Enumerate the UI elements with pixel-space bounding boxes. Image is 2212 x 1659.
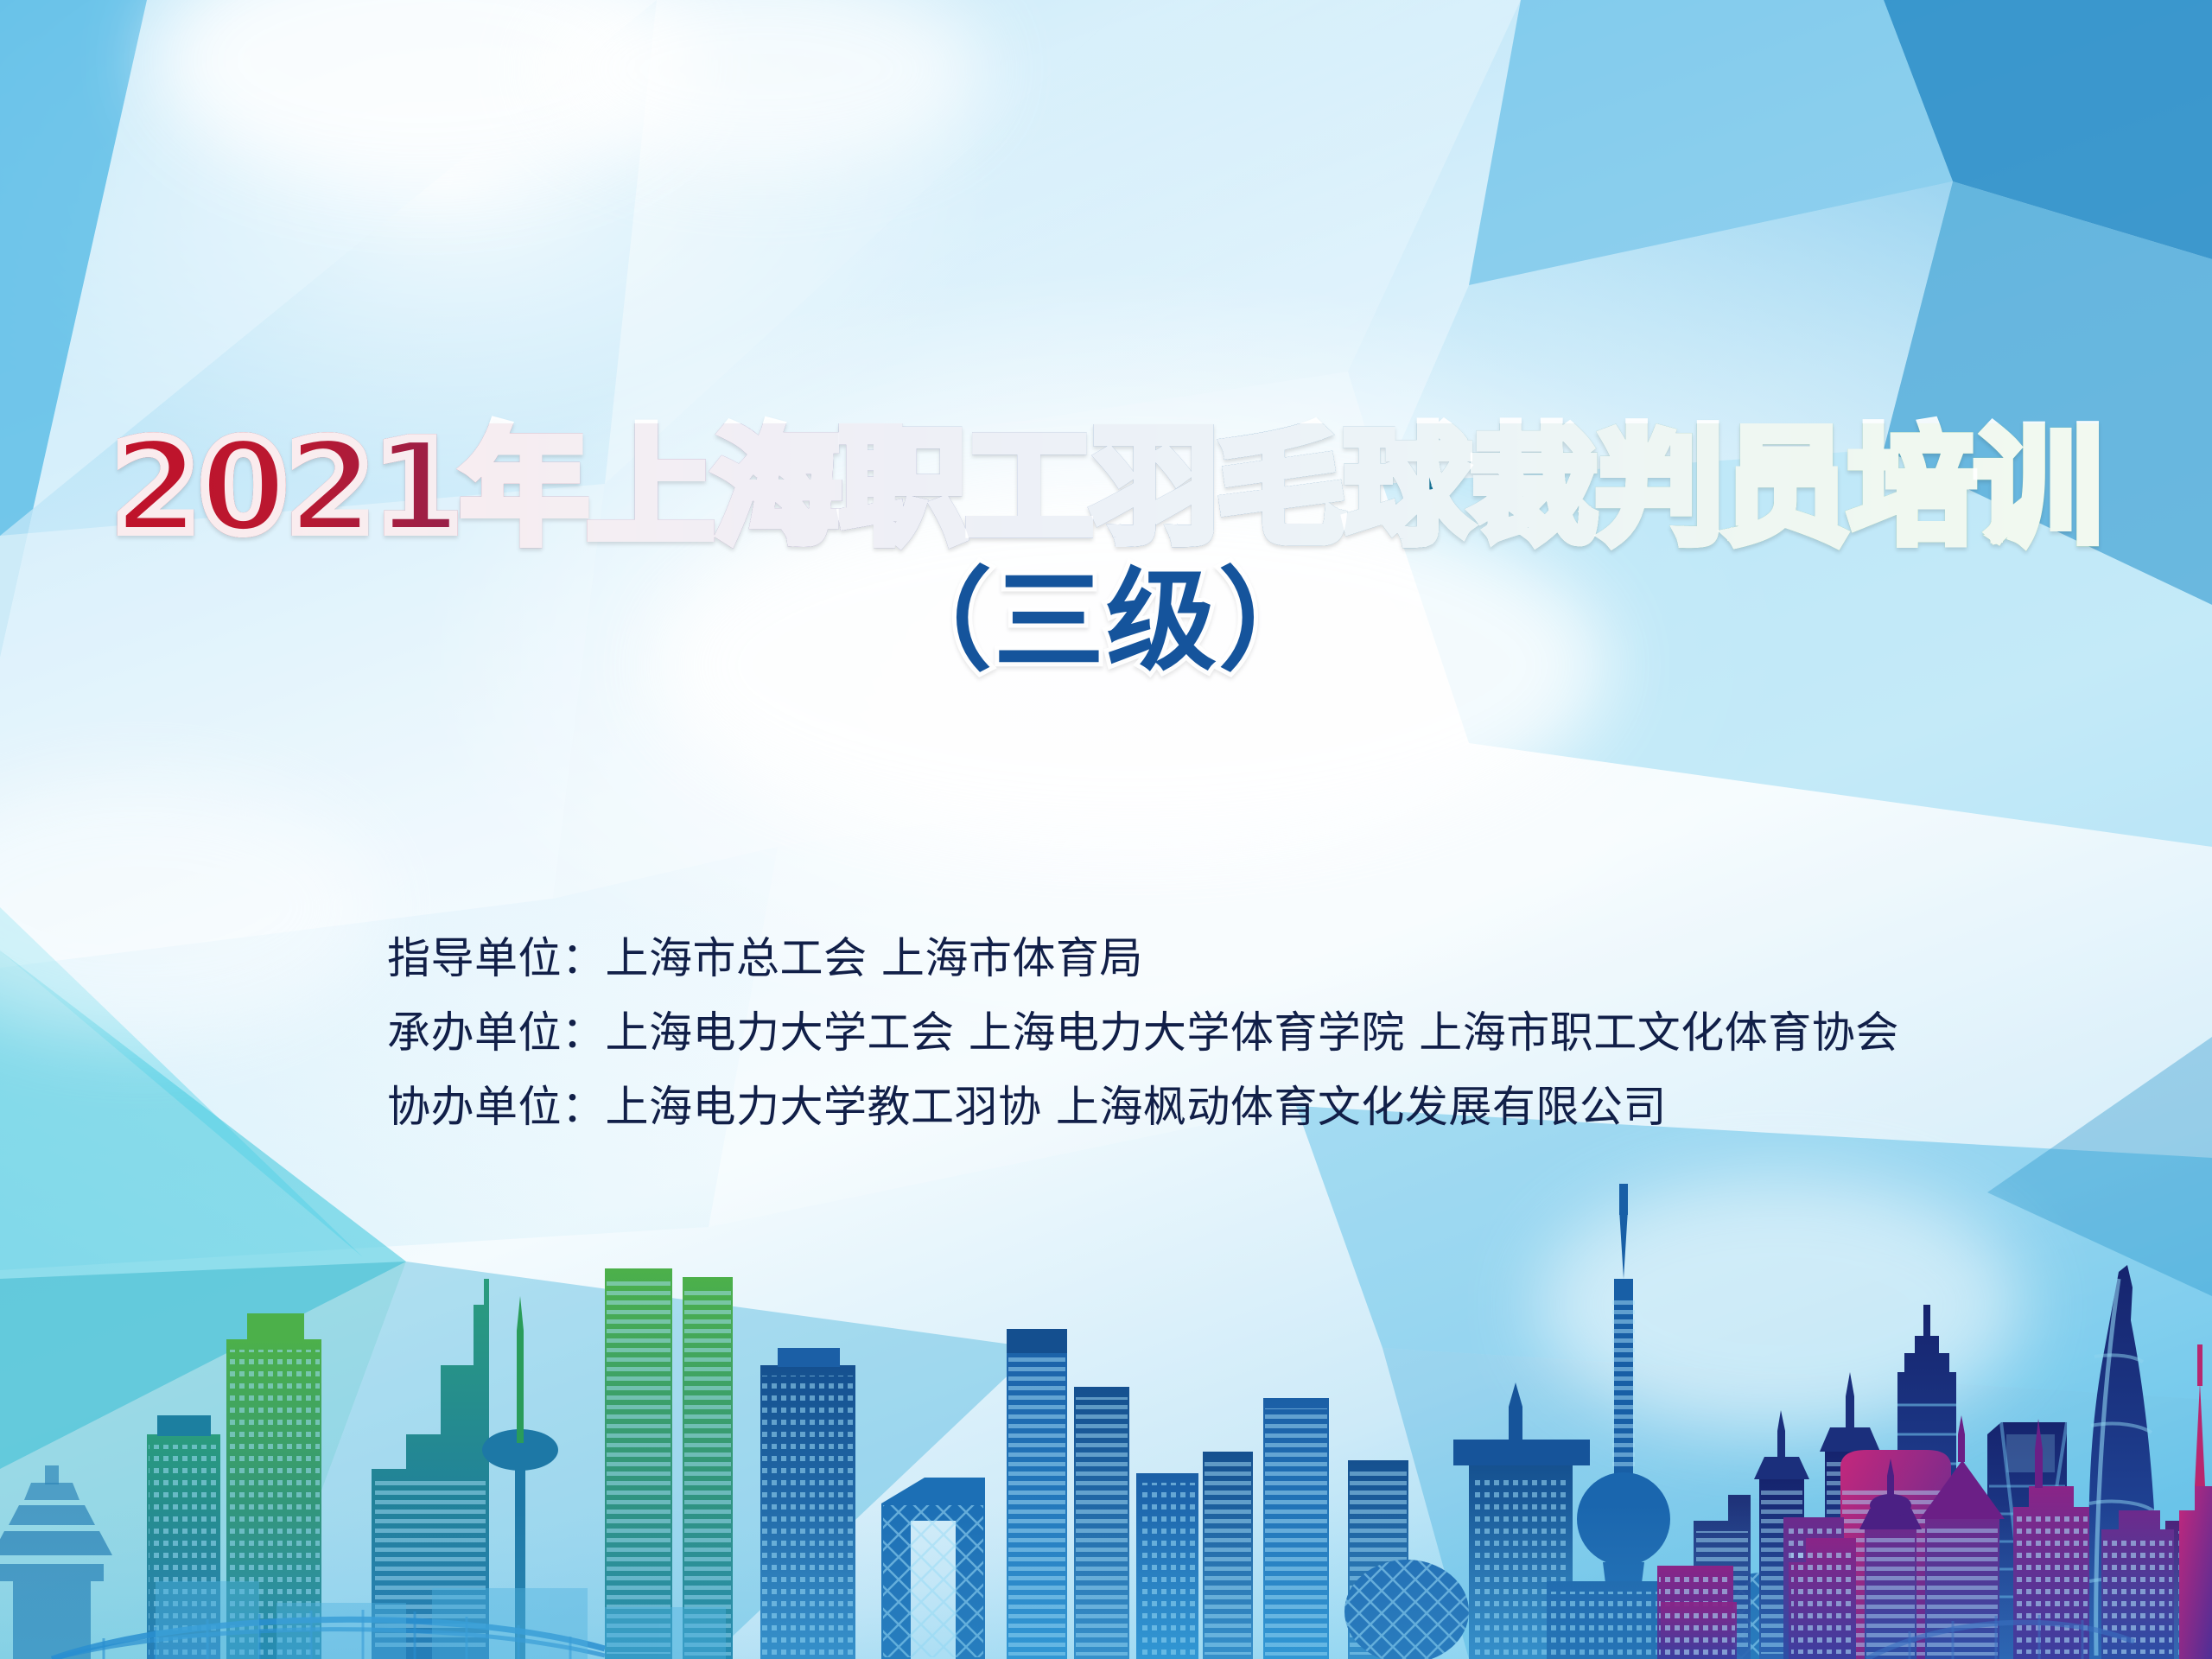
credit-line-coorganizer: 协办单位：上海电力大学教工羽协 上海枫动体育文化发展有限公司 bbox=[387, 1070, 2029, 1144]
city-skyline bbox=[0, 1175, 2212, 1659]
cloud-center bbox=[657, 484, 1607, 847]
credits-block: 指导单位：上海市总工会 上海市体育局 承办单位：上海电力大学工会 上海电力大学体… bbox=[387, 921, 2029, 1144]
poster-slide: 2021年上海职工羽毛球裁判员培训 （三级） 指导单位：上海市总工会 上海市体育… bbox=[0, 0, 2212, 1659]
credit-line-guidance: 指导单位：上海市总工会 上海市体育局 bbox=[387, 921, 2029, 995]
credit-line-organizer: 承办单位：上海电力大学工会 上海电力大学体育学院 上海市职工文化体育协会 bbox=[387, 995, 2029, 1070]
